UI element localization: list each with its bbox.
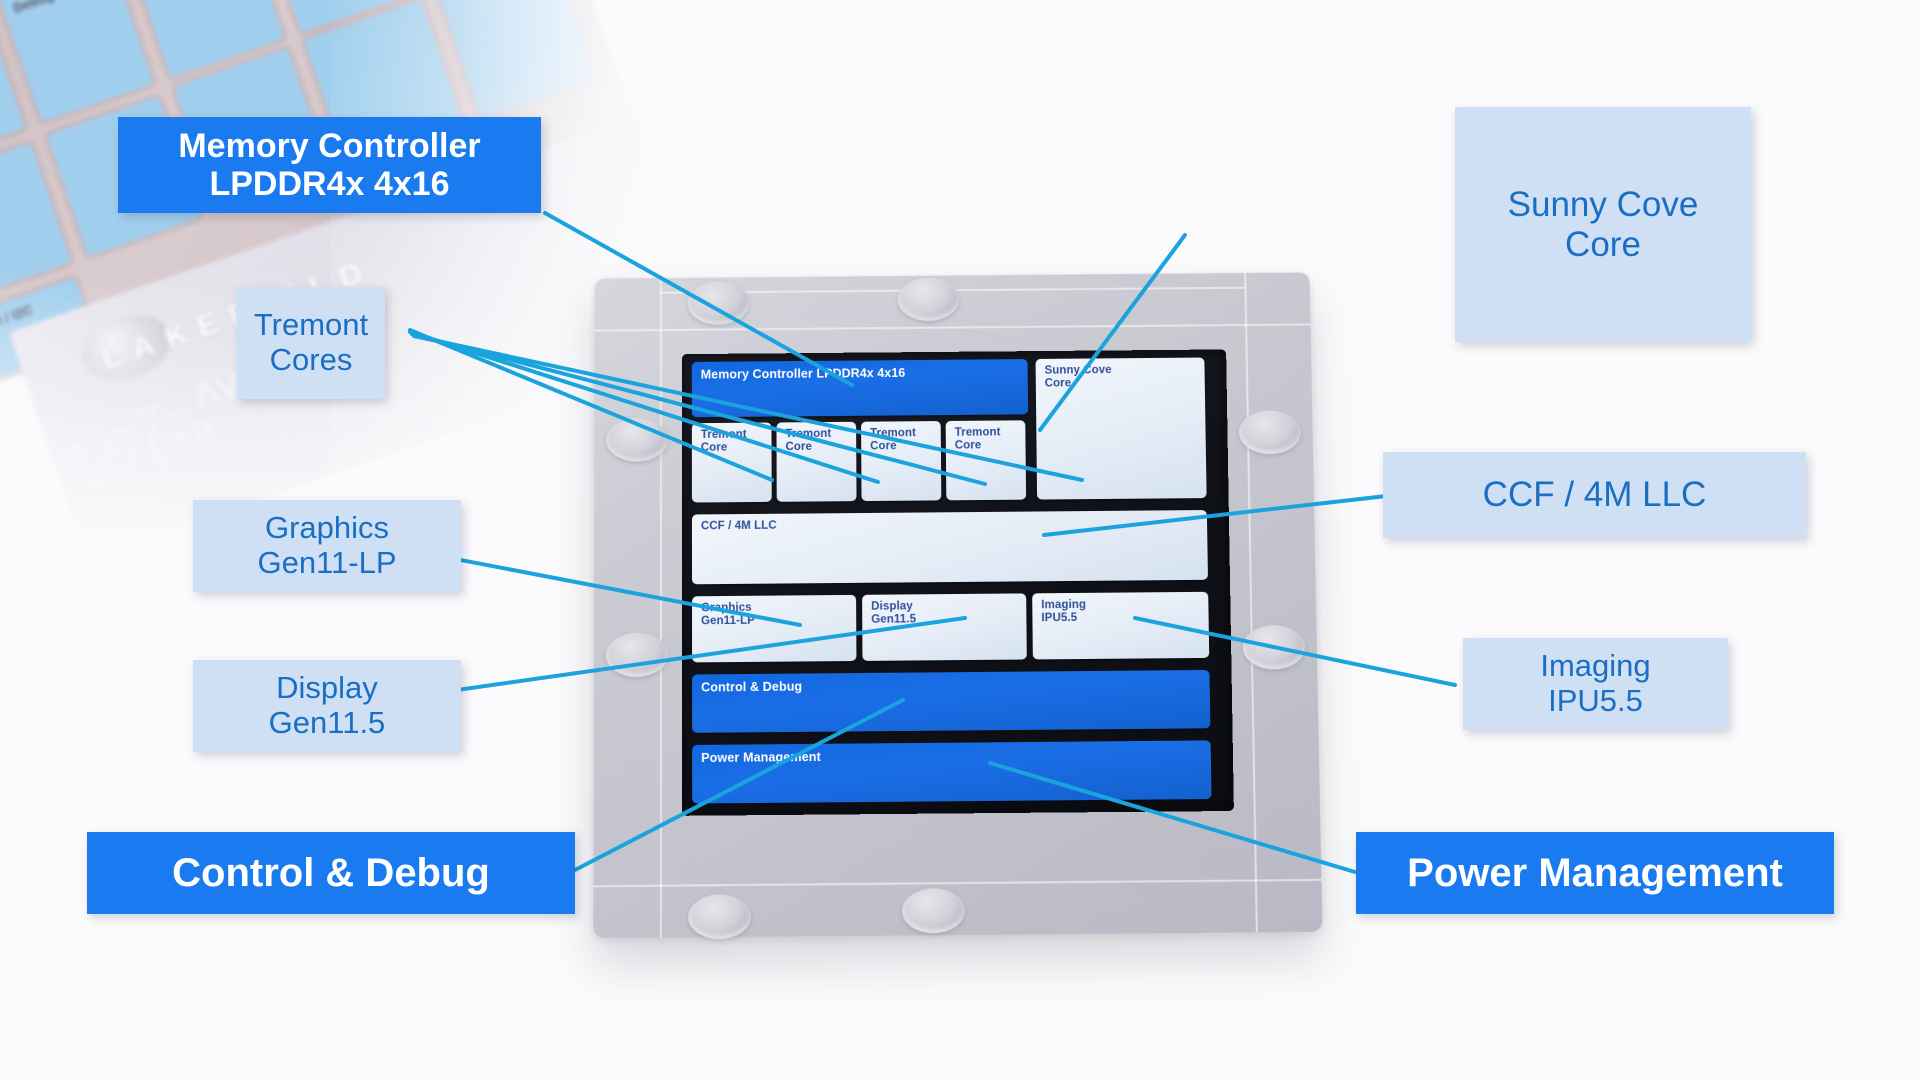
callout-control-debug[interactable]: Control & Debug: [87, 832, 575, 914]
die-block-label: Tremont Core: [701, 429, 747, 456]
die-block-label: Tremont Core: [955, 426, 1001, 453]
die-floorplan: Memory Controller LPDDR4x 4x16 Sunny Cov…: [682, 349, 1234, 815]
die-block-label: Control & Debug: [701, 680, 802, 695]
package-seam: [660, 278, 662, 938]
package-stud: [902, 888, 965, 933]
die-block-imaging[interactable]: Imaging IPU5.5: [1032, 592, 1209, 660]
package-stud: [606, 418, 668, 462]
die-block-ccf-llc[interactable]: CCF / 4M LLC: [692, 510, 1208, 584]
callout-label: Imaging IPU5.5: [1540, 649, 1650, 718]
die-block-display[interactable]: Display Gen11.5: [862, 593, 1027, 661]
callout-label: Control & Debug: [172, 851, 490, 896]
package-stud: [1239, 410, 1301, 454]
chip-package: Memory Controller LPDDR4x 4x16 Sunny Cov…: [594, 272, 1316, 932]
die-block-label: Tremont Core: [870, 427, 916, 454]
callout-tremont-cores[interactable]: Tremont Cores: [237, 287, 385, 399]
package-stud: [1242, 625, 1305, 670]
die-block-tremont-core-4[interactable]: Tremont Core: [946, 420, 1026, 500]
callout-power-management[interactable]: Power Management: [1356, 832, 1834, 914]
die-block-label: Power Management: [701, 750, 821, 766]
callout-imaging[interactable]: Imaging IPU5.5: [1463, 638, 1728, 730]
die-block-label: Sunny Cove Core: [1045, 364, 1112, 391]
package-stud: [688, 894, 751, 939]
callout-sunny-cove-core[interactable]: Sunny Cove Core: [1455, 107, 1751, 342]
callout-display[interactable]: Display Gen11.5: [193, 660, 461, 752]
die-block-label: Tremont Core: [785, 428, 831, 455]
die-block-label: Graphics Gen11-LP: [701, 602, 755, 629]
package-stud: [688, 281, 750, 325]
die-block-label: Display Gen11.5: [871, 600, 916, 627]
callout-label: Power Management: [1407, 851, 1783, 896]
die-block-control-debug[interactable]: Control & Debug: [692, 670, 1210, 733]
die-block-label: Memory Controller LPDDR4x 4x16: [701, 366, 906, 382]
background-tile-label: Debug / NPK: [11, 0, 93, 16]
callout-memory-controller[interactable]: Memory Controller LPDDR4x 4x16: [118, 117, 541, 213]
die-block-tremont-core-3[interactable]: Tremont Core: [861, 421, 941, 501]
die-block-sunny-cove-core[interactable]: Sunny Cove Core: [1036, 358, 1207, 500]
package-seam: [593, 879, 1321, 887]
die-block-power-management[interactable]: Power Management: [692, 740, 1211, 803]
die-block-label: Imaging IPU5.5: [1041, 599, 1086, 626]
die-block-memory-controller[interactable]: Memory Controller LPDDR4x 4x16: [692, 359, 1028, 417]
callout-label: Memory Controller LPDDR4x 4x16: [178, 127, 480, 203]
callout-label: Tremont Cores: [254, 308, 368, 377]
die-block-tremont-core-1[interactable]: Tremont Core: [692, 423, 772, 503]
package-stud: [606, 633, 668, 678]
callout-graphics[interactable]: Graphics Gen11-LP: [193, 500, 461, 592]
package-seam: [1244, 273, 1258, 932]
callout-label: Graphics Gen11-LP: [257, 511, 396, 580]
callout-label: Sunny Cove Core: [1508, 185, 1699, 263]
package-seam: [595, 323, 1311, 331]
package-stud: [898, 277, 960, 321]
die-block-label: CCF / 4M LLC: [701, 520, 777, 534]
die-block-tremont-core-2[interactable]: Tremont Core: [776, 422, 856, 502]
screenshot-root: Debug / NPK PCIe Gen3 rs 3.0) PI / I2C L…: [0, 0, 1920, 1080]
callout-label: Display Gen11.5: [269, 671, 386, 740]
die-block-graphics[interactable]: Graphics Gen11-LP: [692, 595, 856, 663]
callout-label: CCF / 4M LLC: [1483, 475, 1707, 514]
callout-ccf-llc[interactable]: CCF / 4M LLC: [1383, 452, 1806, 538]
